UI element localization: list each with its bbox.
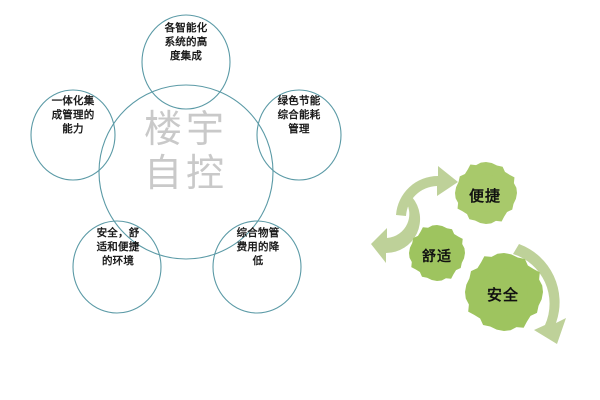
gear-safety[interactable] [465,253,543,331]
gear-convenient[interactable] [455,162,517,224]
gear-comfort[interactable] [409,225,465,281]
arrow-up-right-icon [396,166,458,216]
infographic-canvas: 楼宇 自控 各智能化 系统的高 度集成 一体化集 成管理的 能力 绿色节能 综合… [0,0,600,400]
gear-cluster-layer [0,0,600,400]
